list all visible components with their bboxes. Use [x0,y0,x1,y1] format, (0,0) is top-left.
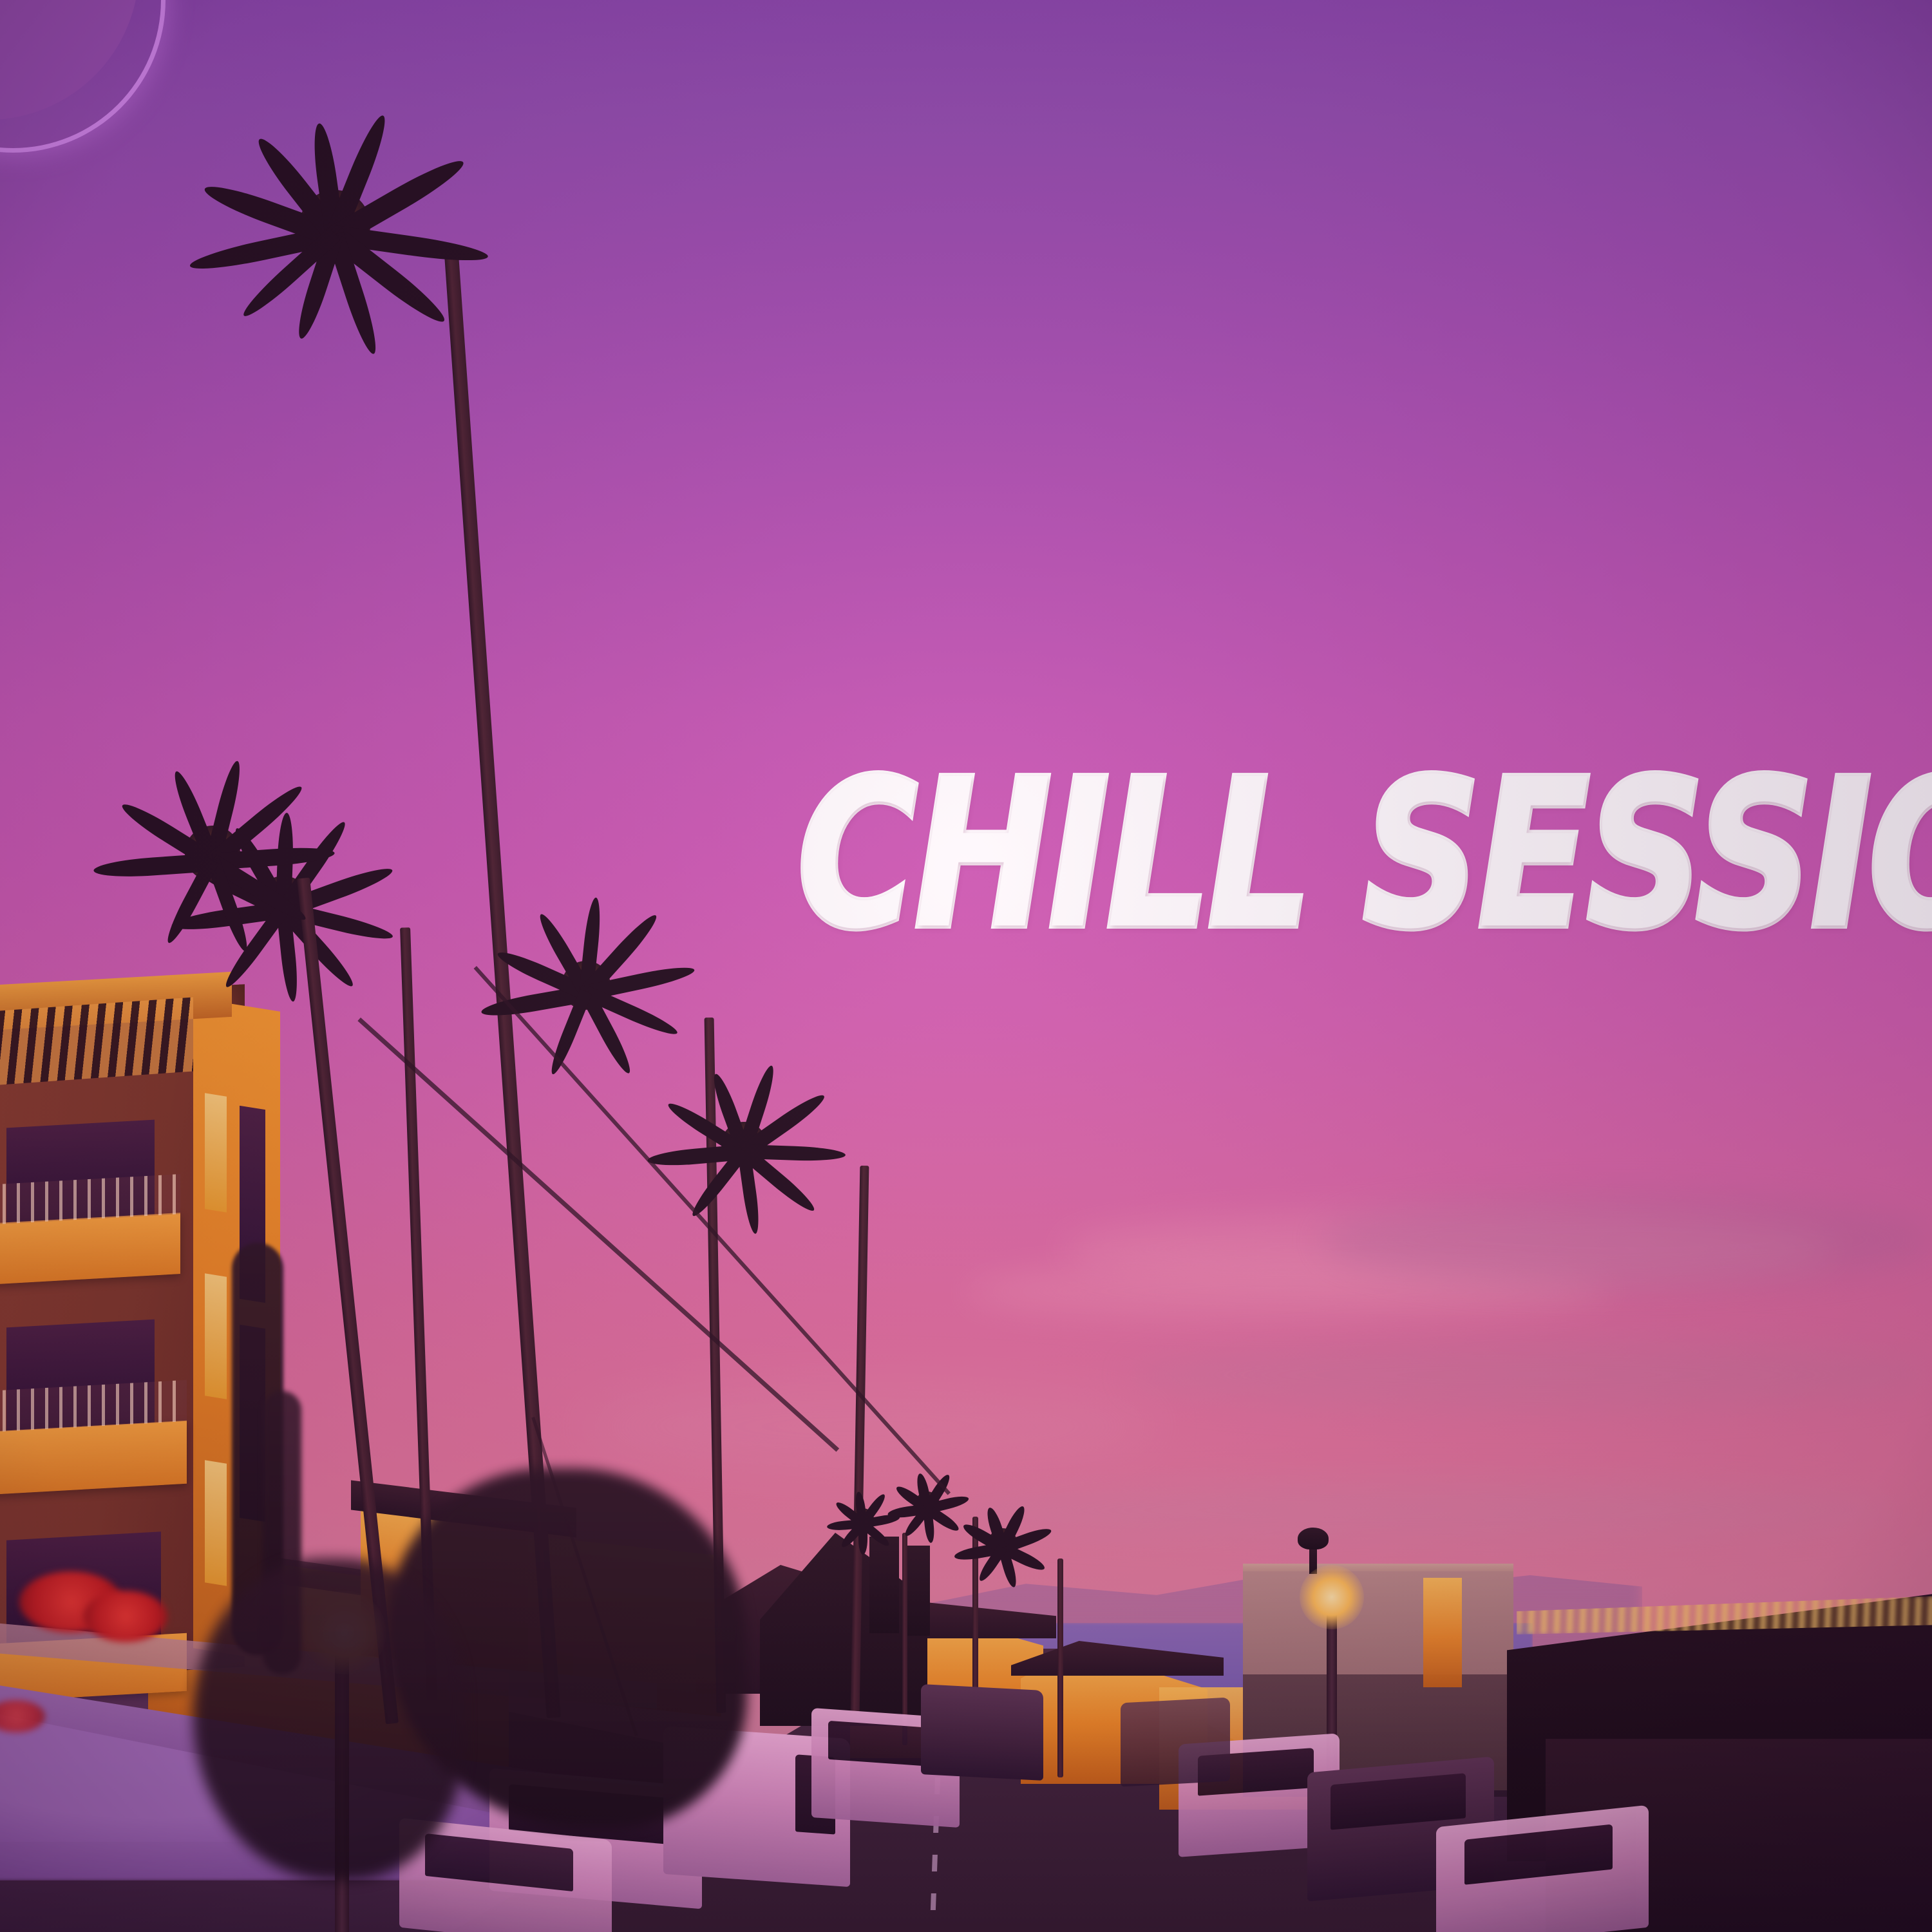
cloud-wisp [1127,1340,1932,1410]
car-window [1331,1773,1466,1830]
palm-trunk [1057,1558,1063,1777]
car-window [1464,1824,1613,1885]
street-lamp-light [1300,1565,1364,1629]
apartment-side-window [205,1093,227,1212]
apartment-side-window [205,1460,227,1586]
apartment-balcony [0,1213,180,1285]
parked-car [1121,1698,1230,1787]
parked-car [921,1684,1043,1781]
red-bougainvillea [84,1591,167,1642]
palm-crown [167,84,502,367]
palm-crown [77,747,348,960]
apartment-balcony [0,1421,187,1495]
crescent-moon [0,0,161,148]
palm-trunk [902,1533,907,1745]
palm-crown [945,1494,1061,1591]
cloud-wisp [1320,1191,1932,1288]
parked-car [1436,1805,1649,1932]
apartment-side-window [205,1273,227,1399]
car-window [425,1833,573,1891]
image-canvas: CHILL SESSION 2 [0,0,1932,1932]
palm-crown [628,1051,860,1238]
warm-wall-strip [1423,1578,1462,1687]
page-title: CHILL SESSION 2 [797,752,1932,957]
foreground-tree-mass [193,1558,464,1880]
satellite-dish [1298,1528,1329,1549]
